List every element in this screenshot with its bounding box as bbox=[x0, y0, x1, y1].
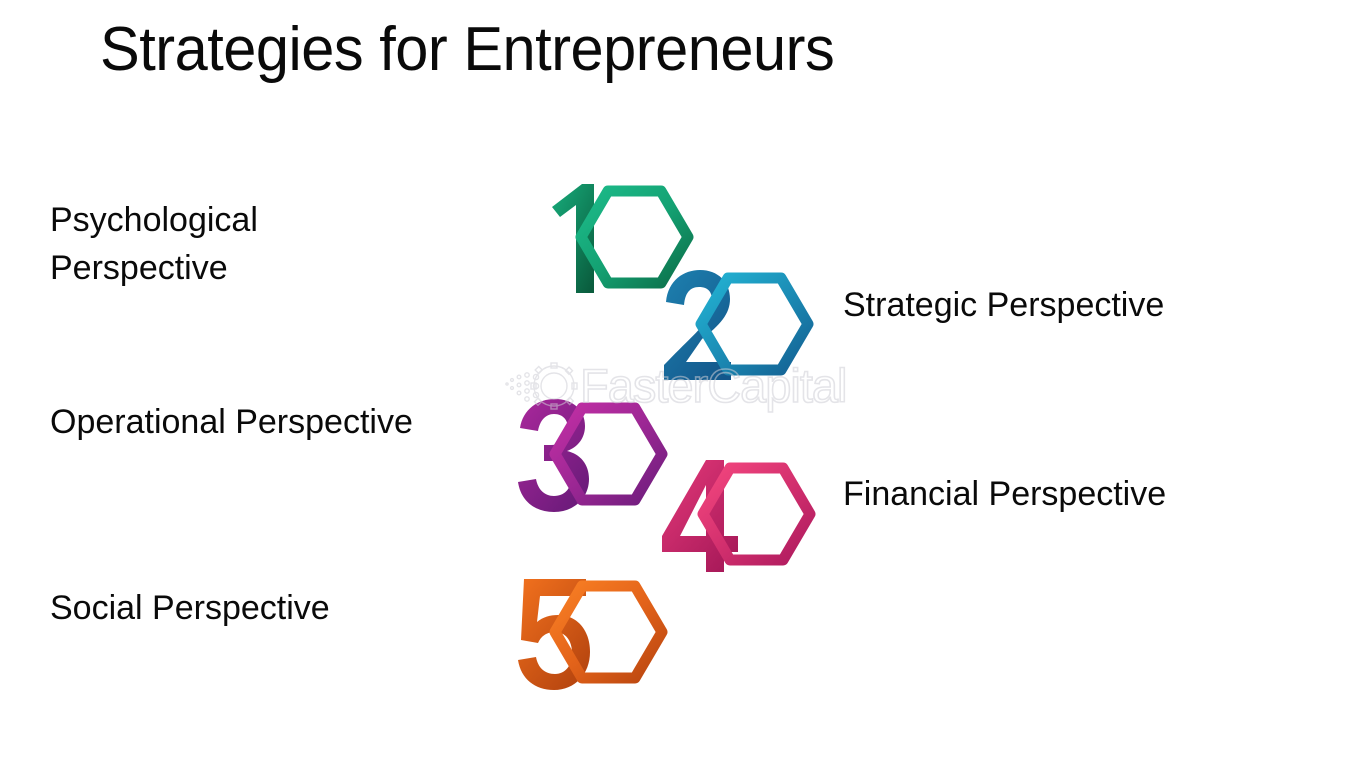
item-label-operational: Operational Perspective bbox=[50, 398, 413, 446]
item-label-financial: Financial Perspective bbox=[843, 470, 1166, 518]
page-title: Strategies for Entrepreneurs bbox=[100, 12, 834, 88]
item-label-psychological: Psychological Perspective bbox=[50, 196, 258, 292]
item-label-social: Social Perspective bbox=[50, 584, 330, 632]
hexagon-graphic-5 bbox=[512, 570, 712, 710]
hexagon-item-2[interactable] bbox=[658, 262, 858, 402]
slide-canvas: Strategies for Entrepreneurs Psychologic… bbox=[0, 0, 1350, 759]
hexagon-item-5[interactable] bbox=[512, 570, 712, 710]
hexagon-graphic-2 bbox=[658, 262, 858, 402]
item-label-strategic: Strategic Perspective bbox=[843, 281, 1164, 329]
